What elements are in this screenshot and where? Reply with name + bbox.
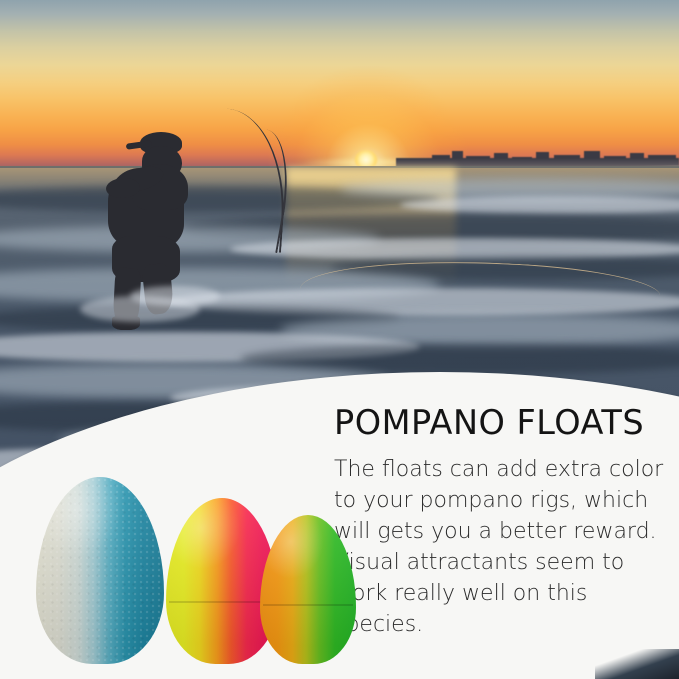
page-title: POMPANO FLOATS: [334, 406, 679, 440]
product-description: The floats can add extra color to your p…: [334, 454, 674, 640]
leg-splash: [130, 286, 220, 306]
copy-block: POMPANO FLOATS The floats can add extra …: [334, 406, 679, 640]
product-infographic: POMPANO FLOATS The floats can add extra …: [0, 0, 679, 679]
corner-photo-sliver: [595, 649, 679, 679]
